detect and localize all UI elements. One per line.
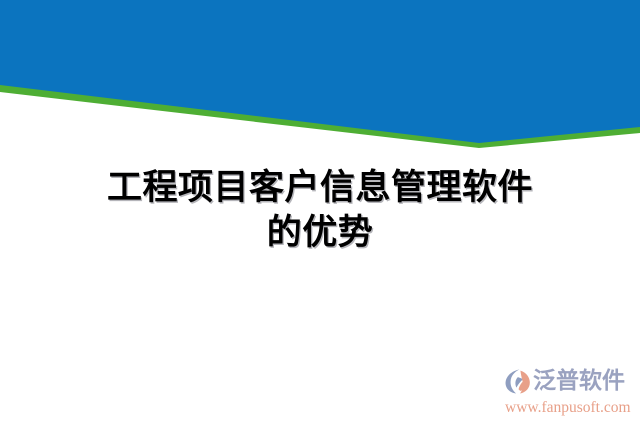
- watermark: 泛普软件 www.fanpusoft.com: [503, 367, 640, 423]
- fanpu-swoosh-logo-icon: [503, 367, 532, 396]
- page-title-text: 工程项目客户信息管理软件 的优势: [0, 166, 640, 256]
- decorative-banner: [0, 0, 640, 160]
- banner-blue-shape: [0, 0, 640, 143]
- watermark-url: www.fanpusoft.com: [505, 400, 631, 416]
- page-title: 工程项目客户信息管理软件 的优势: [0, 166, 640, 256]
- watermark-company-name: 泛普软件: [533, 370, 625, 393]
- watermark-brand-row: 泛普软件: [503, 367, 625, 396]
- slide-canvas: 工程项目客户信息管理软件 的优势 泛普软件 www.fanpusoft.com: [0, 0, 640, 427]
